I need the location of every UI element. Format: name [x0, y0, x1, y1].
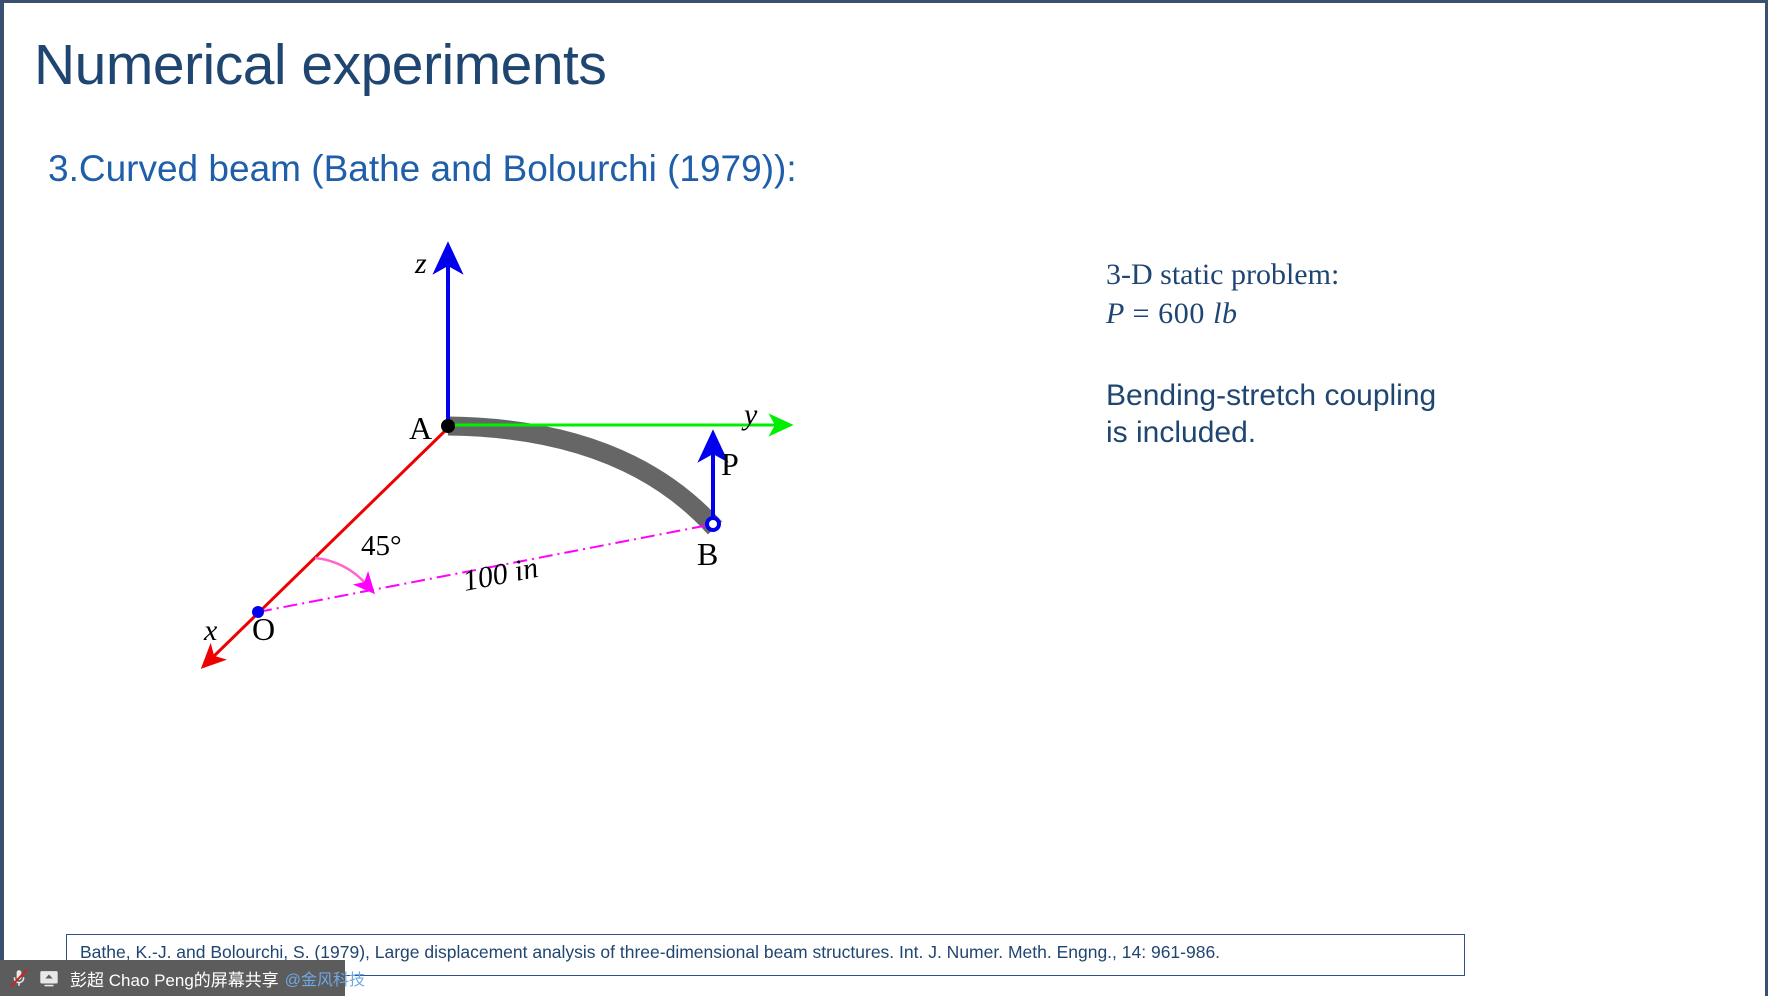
angle-arc	[315, 558, 366, 584]
point-a-label: A	[409, 410, 432, 446]
slide-border-left	[0, 0, 4, 996]
slide-border-top	[0, 0, 1768, 3]
note-spacer	[1106, 333, 1536, 377]
y-axis-label: y	[741, 398, 758, 431]
slide-canvas: Numerical experiments 3.Curved beam (Bat…	[0, 0, 1768, 996]
z-axis-label: z	[414, 247, 427, 280]
formula-symbol: P	[1106, 297, 1124, 330]
x-axis-label: x	[203, 614, 218, 647]
screen-share-taskbar[interactable]: 彭超 Chao Peng的屏幕共享 @金风科技	[0, 960, 345, 996]
origin-label: O	[252, 611, 275, 647]
screen-share-sublabel: @金风科技	[285, 966, 365, 990]
beam-diagram: z y x O A B P 45° 100 in	[170, 228, 890, 678]
note-coupling-line1: Bending-stretch coupling	[1106, 377, 1536, 415]
formula-equals: =	[1133, 297, 1151, 330]
node-marker-a	[441, 419, 455, 433]
point-b-label: B	[697, 536, 718, 572]
load-label: P	[721, 446, 739, 482]
x-axis-line	[212, 428, 448, 658]
angle-label: 45°	[361, 530, 402, 562]
formula-unit: lb	[1213, 297, 1238, 330]
note-coupling-line2: is included.	[1106, 414, 1536, 452]
radius-label: 100 in	[460, 551, 541, 598]
section-subtitle: 3.Curved beam (Bathe and Bolourchi (1979…	[48, 148, 797, 190]
beam-diagram-svg: z y x O A B P 45° 100 in	[170, 228, 890, 678]
microphone-muted-icon[interactable]	[6, 965, 32, 991]
notes-block: 3-D static problem: P = 600 lb Bending-s…	[1106, 257, 1536, 452]
page-title: Numerical experiments	[34, 36, 606, 96]
formula-value: 600	[1158, 297, 1205, 330]
node-marker-b	[707, 518, 719, 530]
note-load-formula: P = 600 lb	[1106, 294, 1536, 333]
screen-share-label: 彭超 Chao Peng的屏幕共享	[70, 966, 279, 991]
screen-share-icon[interactable]	[36, 965, 62, 991]
curved-beam-body	[448, 426, 715, 528]
note-static-problem: 3-D static problem:	[1106, 257, 1536, 294]
